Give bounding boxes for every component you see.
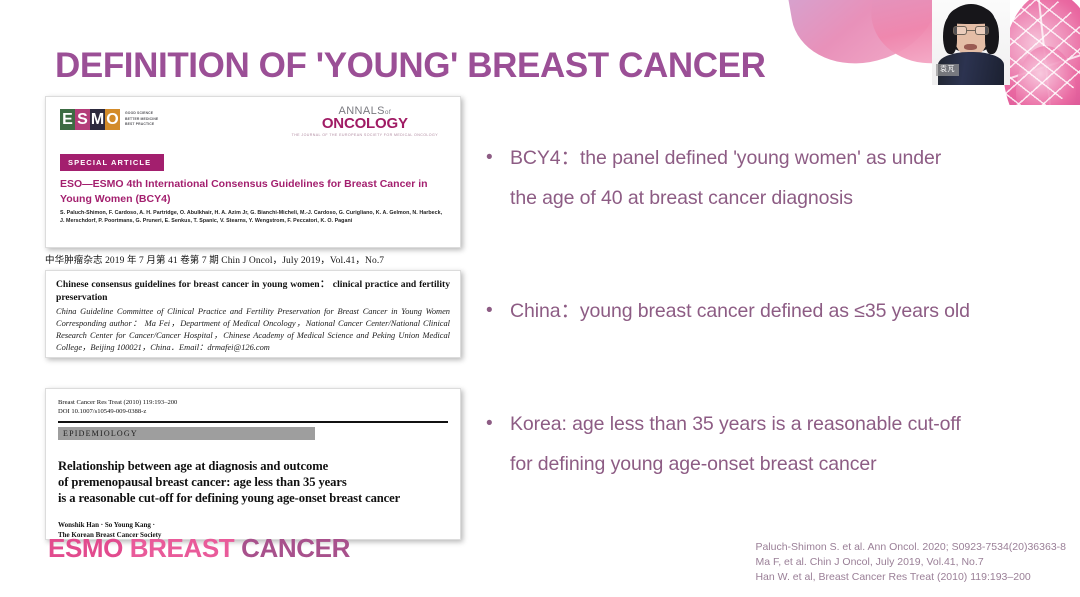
bullet-marker-icon: • [486, 291, 493, 331]
document-card-bcrt-epidemiology[interactable]: Breast Cancer Res Treat (2010) 119:193–2… [45, 388, 461, 540]
document-card-chinese-consensus[interactable]: Chinese consensus guidelines for breast … [45, 270, 461, 358]
bullet-2-line-1: China：young breast cancer defined as ≤35… [510, 291, 1062, 331]
presenter-name-label: 袁芃 [936, 64, 959, 76]
card-affiliation-cjo: China Guideline Committee of Clinical Pr… [56, 306, 450, 354]
cjo-running-head: 中华肿瘤杂志 2019 年 7 月第 41 卷第 7 期 Chin J Onco… [45, 252, 461, 266]
reference-line-1: Paluch-Shimon S. et al. Ann Oncol. 2020;… [755, 540, 1066, 555]
horizontal-rule [58, 421, 448, 423]
esmo-letter-o: O [105, 109, 120, 130]
bullet-marker-icon: • [486, 138, 493, 178]
esmo-letter-s: S [75, 109, 90, 130]
annals-of-oncology-logo: ANNALSof ONCOLOGY THE JOURNAL OF THE EUR… [292, 105, 438, 137]
card-title-bcrt: Relationship between age at diagnosis an… [58, 458, 448, 506]
presenter-video-tile[interactable]: 袁芃 [932, 0, 1010, 85]
footer-logo-esmo: ESMO [48, 533, 123, 563]
bullet-3-line-1: Korea: age less than 35 years is a reaso… [510, 404, 1062, 444]
bcrt-title-line-3: is a reasonable cut-off for defining you… [58, 490, 448, 506]
esmo-logo: E S M O GOOD SCIENCE BETTER MEDICINE BES… [60, 109, 158, 130]
reference-line-2: Ma F, et al. Chin J Oncol, July 2019, Vo… [755, 555, 1066, 570]
bullet-marker-icon: • [486, 404, 493, 444]
footer-logo-breast: BREAST [130, 533, 235, 563]
decorative-petals-graphic [780, 0, 1080, 105]
bullet-1-line-1: BCY4：the panel defined 'young women' as … [510, 138, 1062, 178]
glasses-bridge [967, 30, 975, 31]
esmo-breast-cancer-footer-logo: ESMO BREAST CANCER [48, 533, 350, 564]
esmo-logo-tagline: GOOD SCIENCE BETTER MEDICINE BEST PRACTI… [125, 109, 158, 128]
card-header: E S M O GOOD SCIENCE BETTER MEDICINE BES… [46, 97, 460, 145]
reference-line-3: Han W. et al, Breast Cancer Res Treat (2… [755, 570, 1066, 585]
card-authors-esmo: S. Paluch-Shimon, F. Cardoso, A. H. Part… [60, 209, 446, 225]
card-body: Chinese consensus guidelines for breast … [46, 271, 460, 358]
bullet-list: • BCY4：the panel defined 'young women' a… [482, 138, 1062, 484]
bullet-3-line-2: for defining young age-onset breast canc… [510, 444, 1062, 484]
glasses-lens-right [975, 26, 989, 35]
hair-left-shape [943, 16, 957, 54]
bullet-item-korea: • Korea: age less than 35 years is a rea… [482, 404, 1062, 484]
bcrt-author-line-1: Wonshik Han · So Young Kang · [58, 520, 448, 530]
annals-wordmark-sub: THE JOURNAL OF THE EUROPEAN SOCIETY FOR … [292, 133, 438, 137]
glasses-icon [953, 26, 989, 35]
bcrt-title-line-2: of premenopausal breast cancer: age less… [58, 474, 448, 490]
petal-shape-1 [781, 0, 950, 74]
card-title-esmo: ESO—ESMO 4th International Consensus Gui… [60, 177, 442, 207]
bullet-item-china: • China：young breast cancer defined as ≤… [482, 291, 1062, 331]
bcrt-section-label: EPIDEMIOLOGY [58, 427, 315, 440]
annals-wordmark-main: ONCOLOGY [292, 115, 438, 132]
esmo-letter-m: M [90, 109, 105, 130]
footer-logo-cancer: CANCER [241, 533, 350, 563]
esmo-letter-e: E [60, 109, 75, 130]
bcrt-journal-line-2: DOI 10.1007/s10549-009-0388-z [58, 407, 448, 416]
card-title-cjo: Chinese consensus guidelines for breast … [56, 278, 450, 304]
bullet-1-line-2: the age of 40 at breast cancer diagnosis [510, 178, 1062, 218]
esmo-logo-letters: E S M O [60, 109, 120, 130]
page-title: DEFINITION OF 'YOUNG' BREAST CANCER [55, 46, 765, 86]
hair-right-shape [985, 16, 999, 54]
card-body: Breast Cancer Res Treat (2010) 119:193–2… [46, 389, 460, 539]
mouth-shape [964, 44, 977, 50]
special-article-badge: SPECIAL ARTICLE [60, 154, 164, 171]
references-block: Paluch-Shimon S. et al. Ann Oncol. 2020;… [755, 540, 1066, 585]
presentation-slide: 袁芃 DEFINITION OF 'YOUNG' BREAST CANCER E… [0, 0, 1080, 597]
bcrt-title-line-1: Relationship between age at diagnosis an… [58, 458, 448, 474]
petal-shape-4 [1016, 46, 1076, 105]
petal-shape-3 [1003, 0, 1080, 105]
bcrt-journal-line-1: Breast Cancer Res Treat (2010) 119:193–2… [58, 398, 448, 407]
document-card-esmo-guidelines[interactable]: E S M O GOOD SCIENCE BETTER MEDICINE BES… [45, 96, 461, 248]
glasses-lens-left [953, 26, 967, 35]
bullet-item-bcy4: • BCY4：the panel defined 'young women' a… [482, 138, 1062, 218]
